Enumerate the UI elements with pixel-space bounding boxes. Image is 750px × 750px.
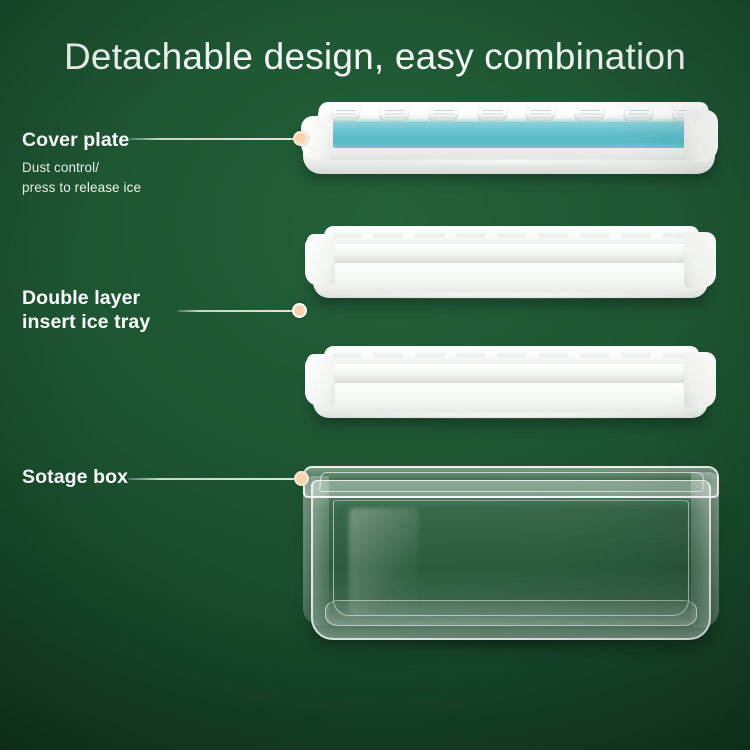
storage-box-rim-inner xyxy=(319,472,705,492)
page-title: Detachable design, easy combination xyxy=(0,36,750,78)
ice-cell xyxy=(414,231,445,239)
ice-tray-flange-lip xyxy=(307,254,714,263)
ice-tray-highlight xyxy=(333,412,683,418)
ice-tray-left-cap xyxy=(305,236,335,286)
callout-dot-insert-ice-tray xyxy=(292,303,307,318)
storage-box-left-edge xyxy=(303,476,329,626)
callout-dot-cover-plate xyxy=(293,131,308,146)
press-dimple xyxy=(476,105,508,122)
callout-cover-plate-title: Cover plate xyxy=(22,128,141,152)
product-ice-tray-upper xyxy=(307,224,714,302)
callout-storage-box: Sotage box xyxy=(22,465,128,489)
ice-cell xyxy=(331,231,362,239)
ice-cell xyxy=(579,231,610,239)
cover-plate-right-cap xyxy=(684,110,718,162)
leader-line-cover-plate xyxy=(129,138,297,140)
callout-storage-box-title: Sotage box xyxy=(22,465,128,489)
product-storage-box xyxy=(303,460,719,642)
leader-line-storage-box xyxy=(128,478,298,480)
ice-cell xyxy=(455,231,486,239)
callout-ice-tray-title-line-1: Double layer xyxy=(22,286,150,310)
ice-tray-flange-lip xyxy=(307,374,714,383)
ice-cell xyxy=(331,351,362,359)
press-dimple xyxy=(525,105,557,122)
callout-dot-storage-box xyxy=(294,471,309,486)
callout-cover-plate-subtitle-line-1: Dust control/ xyxy=(22,158,141,177)
callout-insert-ice-tray: Double layer insert ice tray xyxy=(22,286,150,335)
leader-line-insert-ice-tray xyxy=(178,310,296,312)
ice-cell xyxy=(538,351,569,359)
callout-cover-plate: Cover plate Dust control/ press to relea… xyxy=(22,128,141,197)
press-dimple xyxy=(378,105,410,122)
ice-cell xyxy=(373,231,404,239)
callout-cover-plate-subtitle-line-2: press to release ice xyxy=(22,178,141,197)
product-cover-plate xyxy=(303,100,715,178)
ice-tray-left-cap xyxy=(305,356,335,406)
ice-cell xyxy=(620,351,651,359)
press-dimple xyxy=(329,105,361,122)
ice-tray-cells xyxy=(331,351,692,361)
storage-box-right-edge xyxy=(691,472,719,628)
press-dimple xyxy=(622,105,654,122)
ice-tray-right-cap xyxy=(684,232,716,288)
press-dimple xyxy=(574,105,606,122)
ice-cell xyxy=(538,231,569,239)
ice-cell xyxy=(579,351,610,359)
ice-cell xyxy=(373,351,404,359)
cover-plate-highlight xyxy=(363,158,663,165)
callout-ice-tray-title-line-2: insert ice tray xyxy=(22,310,150,334)
ice-tray-cells xyxy=(331,231,692,241)
ice-cell xyxy=(620,231,651,239)
ice-cell xyxy=(496,231,527,239)
storage-box-highlight xyxy=(349,508,419,616)
press-dimple xyxy=(427,105,459,122)
ice-cell xyxy=(455,351,486,359)
ice-cell xyxy=(414,351,445,359)
product-infographic: Detachable design, easy combination xyxy=(0,0,750,750)
ice-cell xyxy=(496,351,527,359)
cover-plate-press-dimples xyxy=(329,105,704,125)
product-ice-tray-lower xyxy=(307,344,714,422)
ice-tray-highlight xyxy=(333,292,683,298)
ice-tray-right-cap xyxy=(684,352,716,408)
